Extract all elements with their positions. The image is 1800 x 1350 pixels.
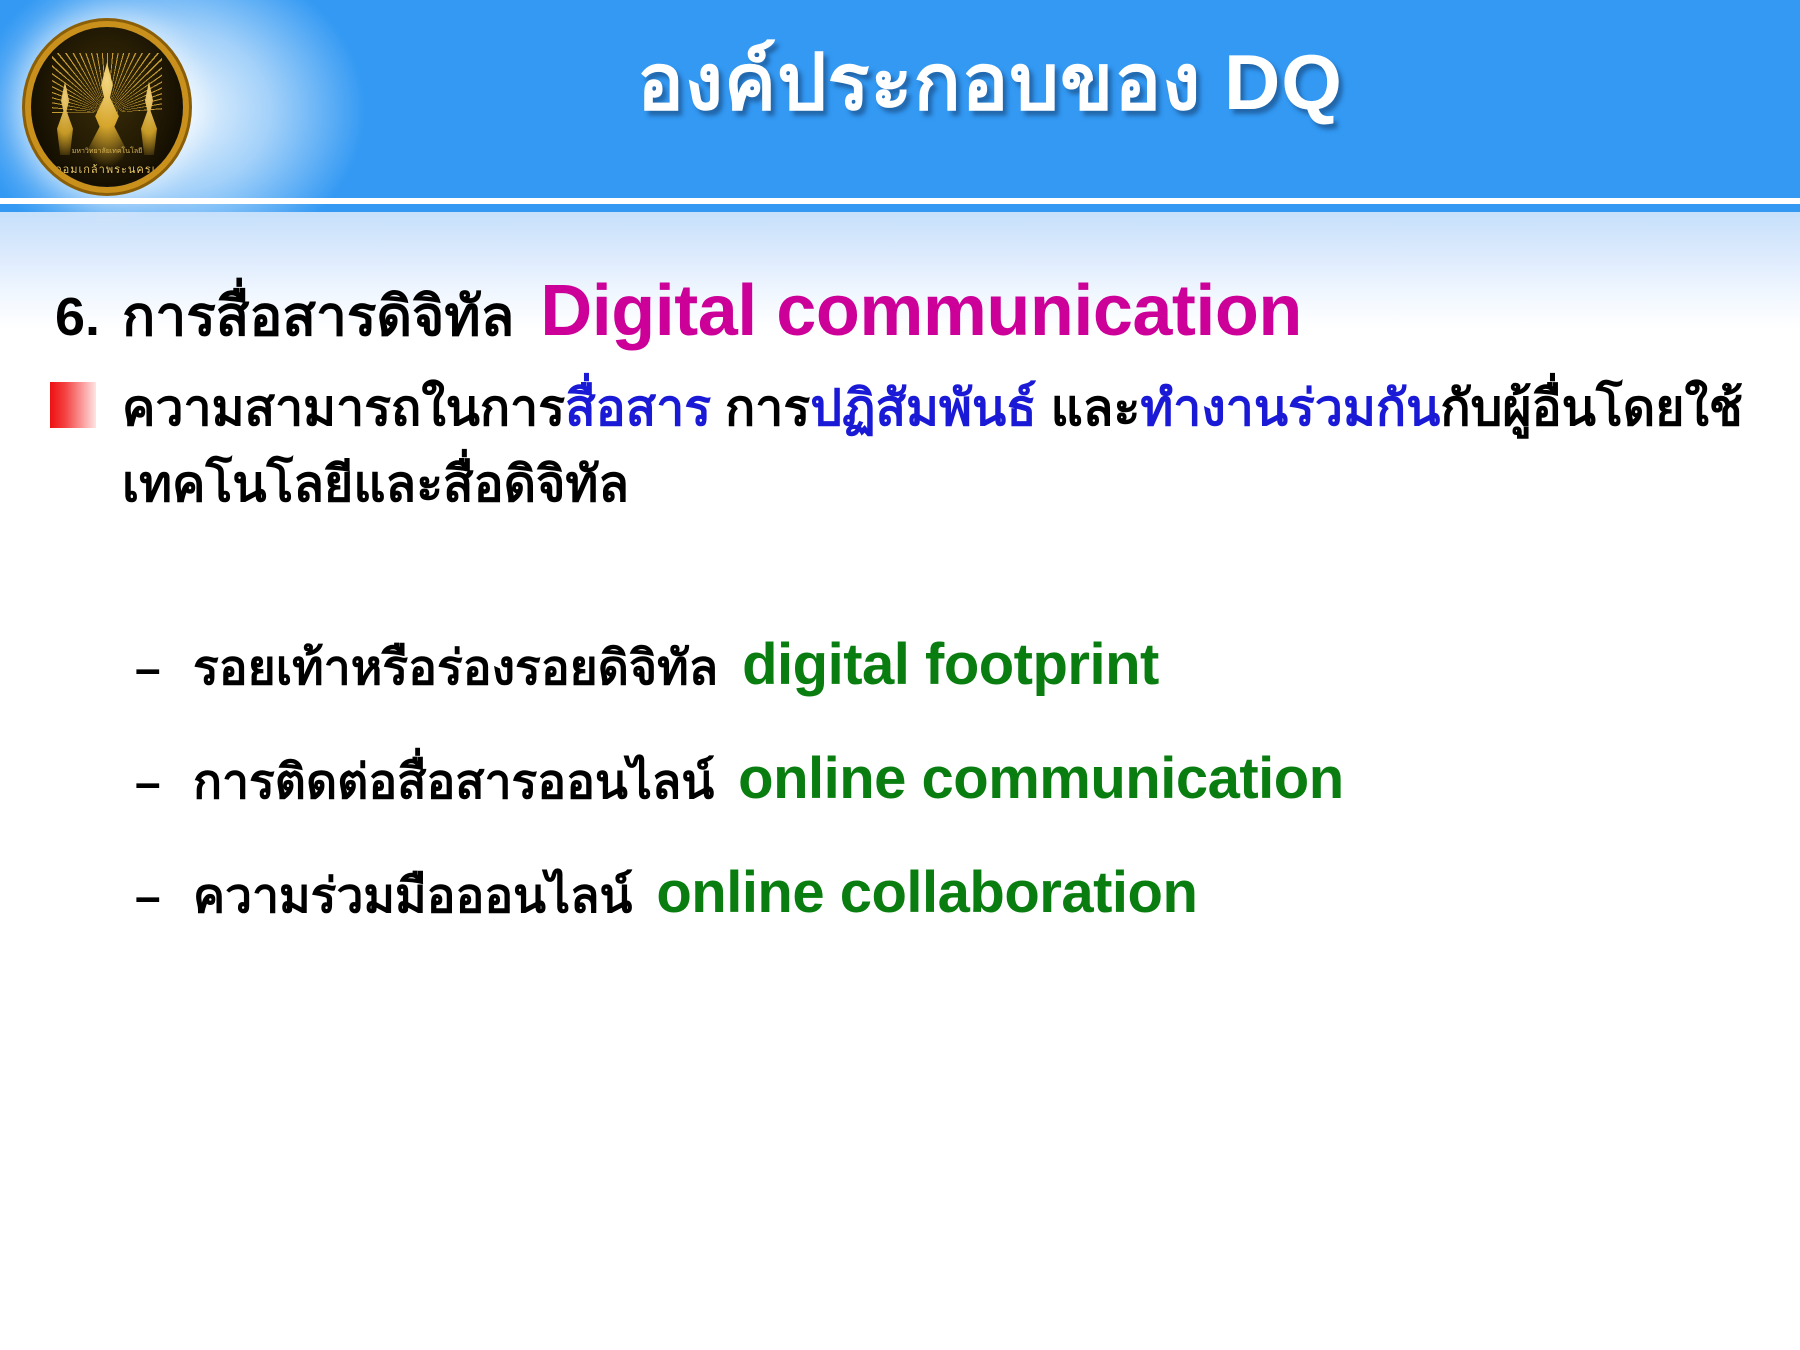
list-item-english: digital footprint [742,632,1159,697]
seal-artwork: มหาวิทยาลัยเทคโนโลยี พระจอมเกล้าพระนครเห… [31,27,183,187]
heading-english: Digital communication [540,271,1302,351]
list-item-dash: – [135,869,193,923]
page-title: องค์ประกอบของ DQ [220,36,1760,128]
list-item-dash: – [135,755,193,809]
presentation-slide: มหาวิทยาลัยเทคโนโลยี พระจอมเกล้าพระนครเห… [0,0,1800,1350]
slide-body: 6.การสื่อสารดิจิทัลDigital communication… [0,250,1800,1350]
definition-paragraph: ความสามารถในการสื่อสาร การปฏิสัมพันธ์ แล… [122,370,1762,522]
university-seal-logo: มหาวิทยาลัยเทคโนโลยี พระจอมเกล้าพระนครเห… [31,27,183,187]
seal-arc-text: พระจอมเกล้าพระนครเหนือ [31,160,183,178]
list-item-english: online communication [738,746,1344,811]
header-divider-rule [0,198,1800,204]
definition-segment-highlight: สื่อสาร [565,380,711,436]
list-item-thai: รอยเท้าหรือร่องรอยดิจิทัล [193,642,718,695]
heading-number: 6. [55,287,100,347]
red-gradient-bullet-icon [50,382,96,428]
list-item: –ความร่วมมือออนไลน์online collaboration [135,858,1775,934]
list-item-thai: ความร่วมมือออนไลน์ [193,870,632,923]
list-item: –การติดต่อสื่อสารออนไลน์online communica… [135,744,1775,820]
heading-thai: การสื่อสารดิจิทัล [122,285,514,347]
definition-segment: การ [711,380,810,436]
definition-segment: และ [1037,380,1141,436]
definition-segment-highlight: ทำงานร่วมกัน [1140,380,1440,436]
heading-line: 6.การสื่อสารดิจิทัลDigital communication [55,270,1302,360]
seal-inner-text: มหาวิทยาลัยเทคโนโลยี [31,146,183,157]
list-item-thai: การติดต่อสื่อสารออนไลน์ [193,756,714,809]
list-item: –รอยเท้าหรือร่องรอยดิจิทัลdigital footpr… [135,630,1775,706]
list-item-dash: – [135,641,193,695]
sub-item-list: –รอยเท้าหรือร่องรอยดิจิทัลdigital footpr… [135,630,1775,972]
definition-segment: ความสามารถในการ [122,380,565,436]
definition-segment-highlight: ปฏิสัมพันธ์ [810,380,1036,436]
list-item-english: online collaboration [656,860,1197,925]
